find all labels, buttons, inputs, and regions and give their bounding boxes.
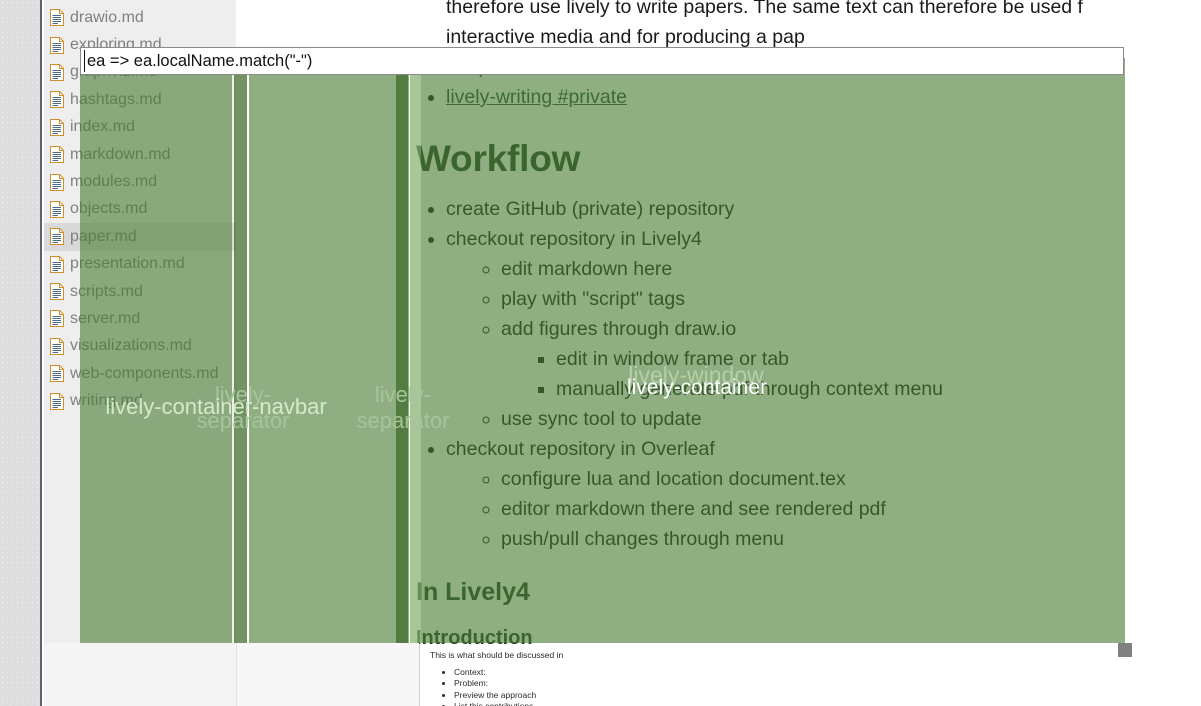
list-item: Preview the approach [454, 690, 1201, 702]
embedded-document-preview[interactable]: This is what should be discussed in Cont… [419, 644, 1201, 706]
list-item: List this contributions [454, 701, 1201, 706]
desktop-background-strip [0, 0, 42, 706]
window-resize-handle[interactable] [1118, 643, 1132, 657]
file-list-item[interactable]: presentation.md [44, 251, 236, 278]
app-root: drawio.mdexploring.mdgraphviz.mdhashtags… [0, 0, 1201, 706]
file-md-icon [50, 201, 64, 218]
file-list-item[interactable]: visualizations.md [44, 333, 236, 360]
list-item: checkout repository in Lively4edit markd… [446, 224, 1201, 434]
file-md-icon [50, 365, 64, 382]
filter-query-input[interactable] [80, 47, 1124, 75]
file-list-item[interactable]: markdown.md [44, 141, 236, 168]
list-item: edit in window frame or tab [556, 344, 1201, 374]
file-md-icon [50, 228, 64, 245]
list-item: add figures through draw.ioedit in windo… [501, 314, 1201, 404]
list-item: editor markdown there and see rendered p… [501, 494, 1201, 524]
list-item: checkout repository in Overleafconfigure… [446, 434, 1201, 554]
file-md-icon [50, 91, 64, 108]
list-item: play with "script" tags [501, 284, 1201, 314]
file-list-item-label: modules.md [70, 174, 157, 190]
file-list-item-label: index.md [70, 119, 135, 135]
file-md-icon [50, 37, 64, 54]
list-item-label: add figures through draw.io [501, 318, 736, 340]
list-item: configure lua and location document.tex [501, 464, 1201, 494]
file-list-item[interactable]: index.md [44, 114, 236, 141]
file-md-icon [50, 146, 64, 163]
file-list-item[interactable]: scripts.md [44, 278, 236, 305]
file-list-item[interactable]: drawio.md [44, 4, 236, 31]
list-item: push/pull changes through menu [501, 524, 1201, 554]
list-item: use sync tool to update [501, 404, 1201, 434]
content-lower-filler [236, 643, 419, 706]
embedded-doc-bullet-list: Context:Problem:Preview the approachList… [430, 667, 1201, 706]
file-list-item-label: markdown.md [70, 147, 170, 163]
file-list-item-label: presentation.md [70, 256, 185, 272]
file-list-item-label: hashtags.md [70, 92, 162, 108]
intro-line-2: therefore use lively to write papers. Th… [446, 0, 1083, 18]
workflow-sublist-2: edit markdown hereplay with "script" tag… [446, 254, 1201, 434]
file-list-item-label: objects.md [70, 201, 147, 217]
file-md-icon [50, 393, 64, 410]
intro-paragraph-list: Latex has support for writing content in… [416, 0, 1201, 52]
file-list-item[interactable]: web-components.md [44, 360, 236, 387]
list-item-label: checkout repository in Lively4 [446, 228, 702, 250]
list-item: Context: [454, 667, 1201, 679]
intro-line-3: interactive media and for producing a pa… [446, 26, 805, 48]
file-list-item-label: writing.md [70, 393, 143, 409]
file-list-item-label: web-components.md [70, 366, 219, 382]
list-item-label: create GitHub (private) repository [446, 198, 734, 220]
file-md-icon [50, 9, 64, 26]
heading-in-lively4: In Lively4 [416, 578, 1201, 607]
file-list-item-label: server.md [70, 311, 140, 327]
file-md-icon [50, 119, 64, 136]
list-item-label: editor markdown there and see rendered p… [501, 498, 886, 520]
file-list-item[interactable]: paper.md [44, 223, 236, 250]
heading-workflow: Workflow [416, 138, 1201, 180]
file-list-item[interactable]: modules.md [44, 168, 236, 195]
file-md-icon [50, 310, 64, 327]
list-item-label: use sync tool to update [501, 408, 702, 430]
intro-paragraph-item: Latex has support for writing content in… [446, 0, 1201, 52]
embedded-doc-intro: This is what should be discussed in [430, 650, 1201, 662]
list-item: Problem: [454, 678, 1201, 690]
workflow-sublist-2: configure lua and location document.texe… [446, 464, 1201, 554]
lively-container-navbar[interactable]: drawio.mdexploring.mdgraphviz.mdhashtags… [44, 0, 236, 706]
text-caret [84, 50, 85, 72]
file-list-item[interactable]: server.md [44, 305, 236, 332]
list-item: create GitHub (private) repository [446, 194, 1201, 224]
lively-container-content[interactable]: Latex has support for writing content in… [236, 0, 1201, 706]
workflow-list: create GitHub (private) repositorychecko… [416, 194, 1201, 554]
workflow-sublist-3: edit in window frame or tabmanually gene… [501, 344, 1201, 404]
list-item-label: edit in window frame or tab [556, 348, 789, 370]
file-list-item[interactable]: writing.md [44, 387, 236, 414]
file-list-item-label: paper.md [70, 229, 137, 245]
file-list-item[interactable]: hashtags.md [44, 86, 236, 113]
list-item-label: play with "script" tags [501, 288, 685, 310]
list-item-label: configure lua and location document.tex [501, 468, 846, 490]
file-list-item-label: visualizations.md [70, 338, 192, 354]
file-md-icon [50, 338, 64, 355]
file-md-icon [50, 64, 64, 81]
file-list-item-label: drawio.md [70, 10, 144, 26]
file-md-icon [50, 174, 64, 191]
list-item: edit markdown here [501, 254, 1201, 284]
list-item-label: push/pull changes through menu [501, 528, 784, 550]
link-lively-writing-private[interactable]: lively-writing #private [446, 86, 627, 108]
list-item: manually generate pdf through context me… [556, 374, 1201, 404]
navbar-lower-filler [44, 643, 236, 706]
file-md-icon [50, 283, 64, 300]
file-list-item[interactable]: objects.md [44, 196, 236, 223]
list-item-label: checkout repository in Overleaf [446, 438, 715, 460]
markdown-rendered-body: Latex has support for writing content in… [416, 0, 1201, 660]
list-item-label: manually generate pdf through context me… [556, 378, 943, 400]
file-md-icon [50, 256, 64, 273]
list-item[interactable]: lively-writing #private [446, 82, 1201, 112]
file-list-item-label: scripts.md [70, 284, 143, 300]
list-item-label: edit markdown here [501, 258, 672, 280]
